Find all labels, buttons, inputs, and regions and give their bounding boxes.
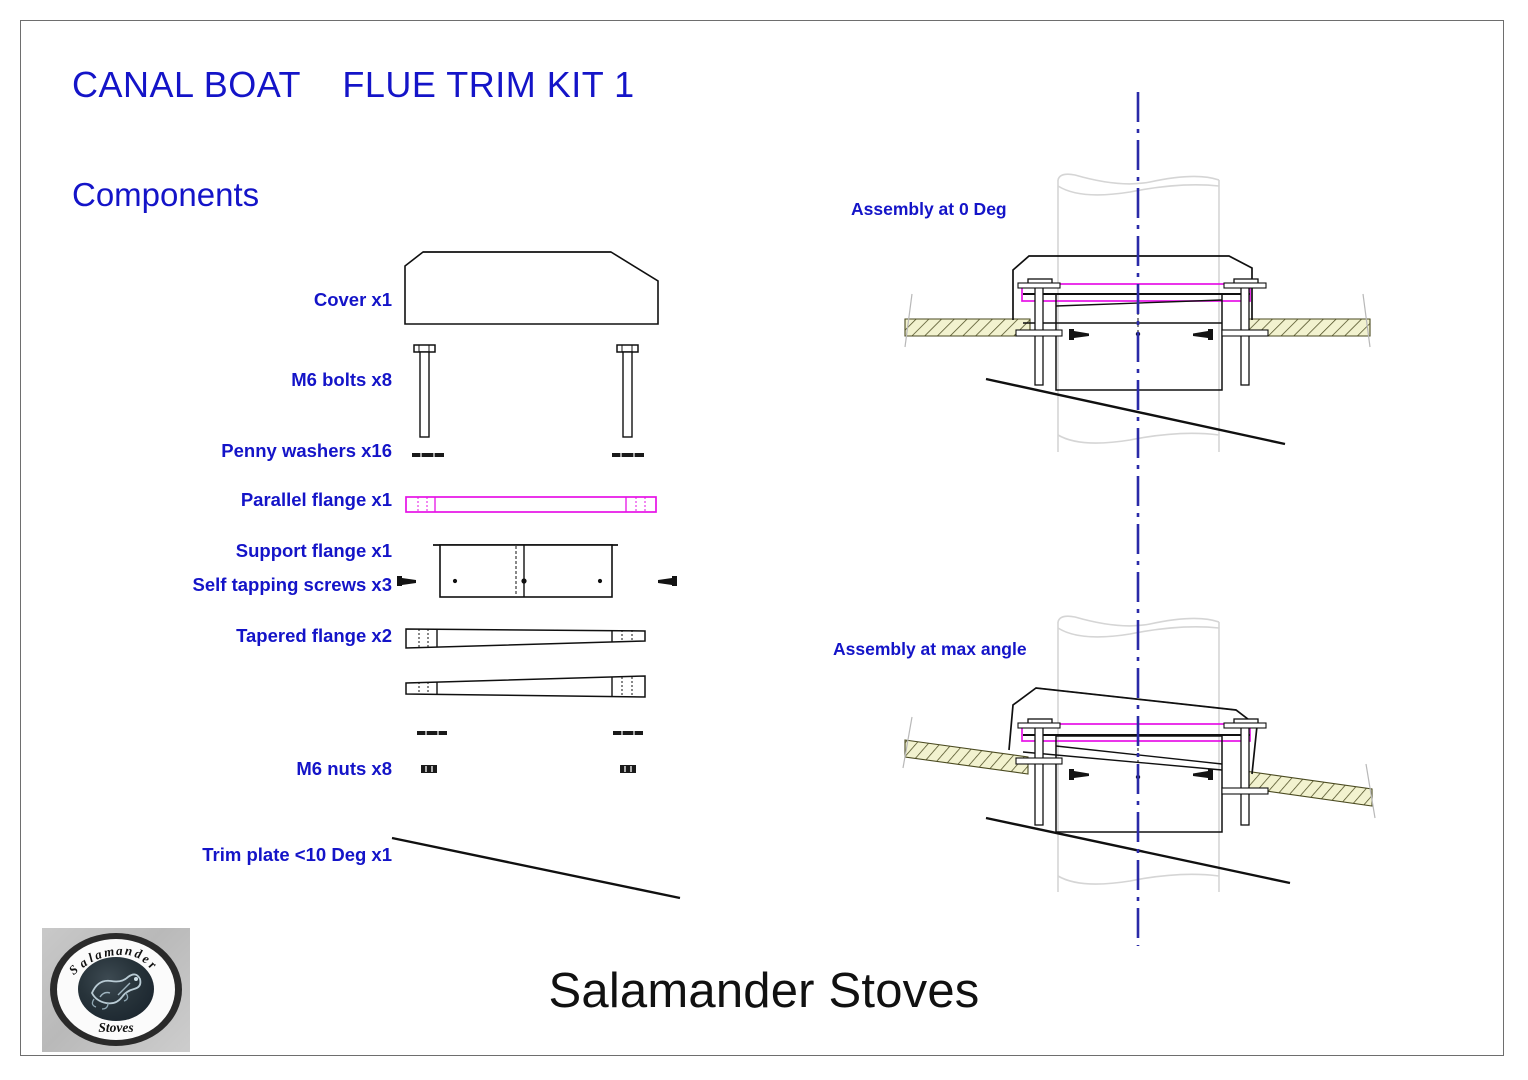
label-tapered-flange: Tapered flange x2 — [236, 625, 392, 647]
label-trim-plate: Trim plate <10 Deg x1 — [202, 844, 392, 866]
label-support-flange: Support flange x1 — [236, 540, 392, 562]
label-m6-bolts: M6 bolts x8 — [291, 369, 392, 391]
label-m6-nuts: M6 nuts x8 — [296, 758, 392, 780]
logo-bottom-text: Stoves — [42, 1020, 190, 1036]
page-title: CANAL BOAT FLUE TRIM KIT 1 — [72, 64, 635, 106]
assembly-max-angle-label: Assembly at max angle — [833, 639, 1027, 660]
assembly-0-deg-label: Assembly at 0 Deg — [851, 199, 1007, 220]
label-self-tapping-screws: Self tapping screws x3 — [193, 574, 392, 596]
label-penny-washers: Penny washers x16 — [221, 440, 392, 462]
components-heading: Components — [72, 176, 259, 214]
brand-footer: Salamander Stoves — [0, 963, 1528, 1019]
drawing-sheet: CANAL BOAT FLUE TRIM KIT 1 Components As… — [0, 0, 1528, 1080]
label-parallel-flange: Parallel flange x1 — [241, 489, 392, 511]
salamander-stoves-logo: S a l a m a n d e r Stoves — [42, 928, 190, 1052]
label-cover: Cover x1 — [314, 289, 392, 311]
